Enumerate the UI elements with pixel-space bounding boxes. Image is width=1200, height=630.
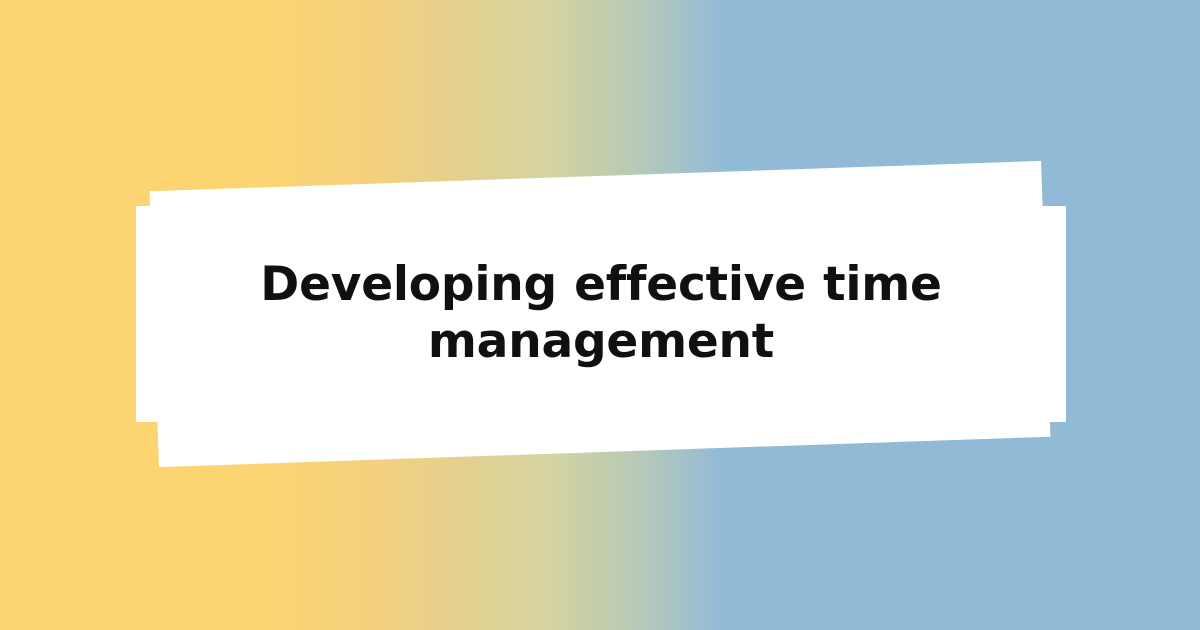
slide-canvas: Developing effective time management [0,0,1200,630]
page-title: Developing effective time management [136,257,1066,371]
title-card: Developing effective time management [136,206,1066,422]
